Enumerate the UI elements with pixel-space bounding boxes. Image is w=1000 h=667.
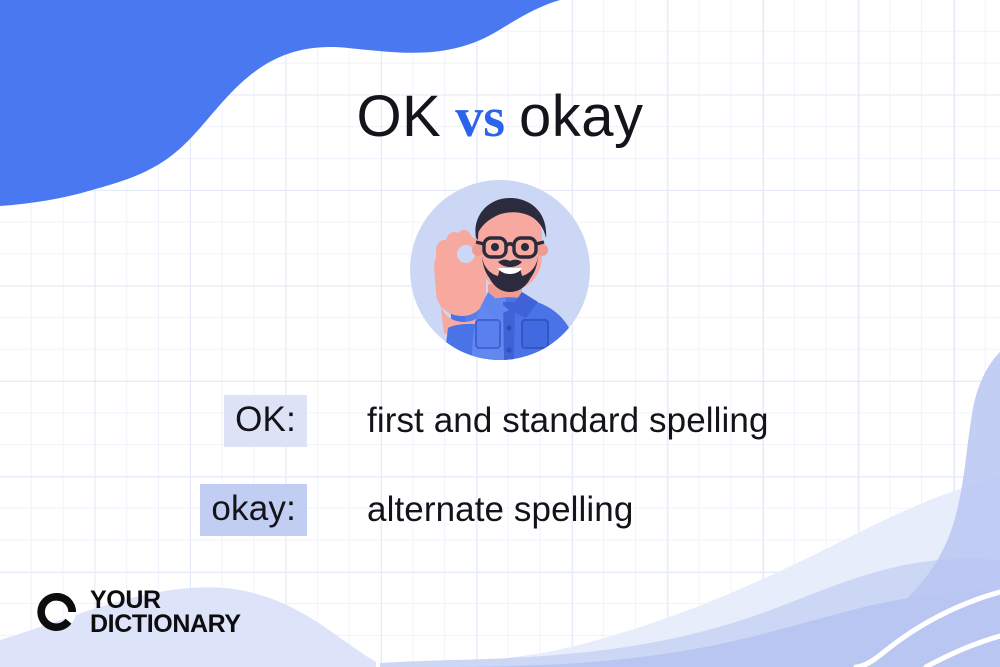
term-cell: okay: [0, 484, 307, 537]
term-label: OK: [224, 395, 307, 448]
definition-list: OK: first and standard spelling okay: al… [0, 393, 1000, 538]
title-right-word: okay [519, 84, 644, 149]
logo-line-one: YOUR [90, 588, 241, 612]
logo-line-two: DICTIONARY [90, 612, 241, 636]
definition-row: okay: alternate spelling [0, 482, 1000, 538]
definition-label: alternate spelling [367, 489, 633, 531]
illustration-man-ok-gesture [410, 180, 590, 360]
yourdictionary-logo[interactable]: YOUR DICTIONARY [35, 583, 241, 641]
title-connector: vs [441, 87, 519, 149]
term-cell: OK: [0, 395, 307, 448]
ring-with-notch-icon [35, 590, 79, 634]
title-left-word: OK [356, 84, 441, 149]
definition-label: first and standard spelling [367, 400, 769, 442]
definition-row: OK: first and standard spelling [0, 393, 1000, 449]
term-label: okay: [200, 484, 307, 537]
infographic-canvas: OKvsokay [0, 0, 1000, 667]
page-title: OKvsokay [0, 88, 1000, 146]
logo-wordmark: YOUR DICTIONARY [90, 588, 241, 636]
